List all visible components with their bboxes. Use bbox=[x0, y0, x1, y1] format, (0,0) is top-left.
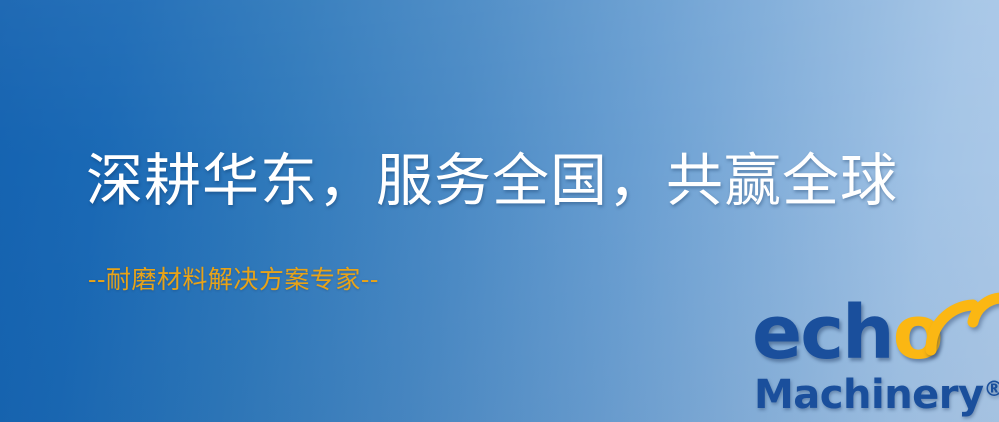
logo-tagline: Machinery® bbox=[754, 375, 999, 415]
hero-banner: 深耕华东，服务全国，共赢全球 --耐磨材料解决方案专家-- echo Machi… bbox=[0, 0, 999, 422]
logo-wordmark: echo bbox=[752, 296, 942, 370]
company-logo[interactable]: echo Machinery® bbox=[748, 296, 999, 422]
registered-trademark-icon: ® bbox=[984, 377, 999, 401]
banner-headline: 深耕华东，服务全国，共赢全球 bbox=[86, 152, 898, 212]
banner-subtitle: --耐磨材料解决方案专家-- bbox=[88, 266, 379, 294]
signal-waves-icon bbox=[915, 292, 999, 358]
logo-tagline-text: Machinery bbox=[754, 372, 984, 418]
logo-text-ech: ech bbox=[752, 290, 893, 376]
